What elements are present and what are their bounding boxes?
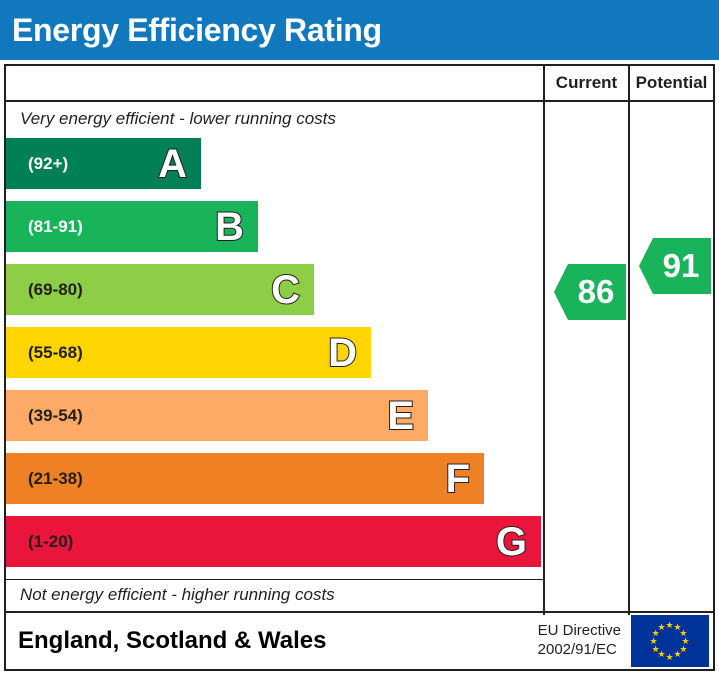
eu-flag-star: ★ [652,645,660,654]
rating-table: Current Potential Very energy efficient … [4,64,715,613]
band-letter-label: E [387,396,414,436]
caption-efficient: Very energy efficient - lower running co… [6,104,543,134]
column-header-potential: Potential [628,66,713,100]
eu-flag-star: ★ [666,653,674,662]
band-range-label: (81-91) [6,217,83,237]
column-divider-potential [628,102,630,615]
band-range-label: (1-20) [6,532,73,552]
eu-flag-star: ★ [658,623,666,632]
eu-flag-star: ★ [650,637,658,646]
caption-inefficient: Not energy efficient - higher running co… [6,579,543,609]
rating-band-b: (81-91)B [6,201,258,252]
certificate-footer: England, Scotland & Wales EU Directive 2… [4,613,715,671]
rating-band-a: (92+)A [6,138,201,189]
band-range-label: (92+) [6,154,68,174]
directive-line-2: 2002/91/EC [538,641,621,660]
band-range-label: (55-68) [6,343,83,363]
band-letter-label: B [215,207,244,247]
footer-directive: EU Directive 2002/91/EC [538,622,631,660]
footer-region-label: England, Scotland & Wales [6,627,538,655]
column-header-blank [6,66,543,100]
certificate-header: Energy Efficiency Rating [0,0,719,60]
rating-band-d: (55-68)D [6,327,371,378]
band-letter-label: F [446,459,470,499]
potential-rating-value: 91 [663,247,700,285]
band-letter-label: D [328,333,357,373]
band-letter-label: C [271,270,300,310]
band-range-label: (39-54) [6,406,83,426]
rating-band-e: (39-54)E [6,390,428,441]
band-range-label: (69-80) [6,280,83,300]
rating-band-c: (69-80)C [6,264,314,315]
directive-line-1: EU Directive [538,622,621,641]
band-letter-label: G [496,522,527,562]
epc-certificate: Energy Efficiency Rating Current Potenti… [0,0,719,675]
eu-flag-star: ★ [666,621,674,630]
page-title: Energy Efficiency Rating [12,12,382,49]
rating-band-g: (1-20)G [6,516,541,567]
rating-band-f: (21-38)F [6,453,484,504]
potential-rating-arrow: 91 [639,238,711,294]
rating-bands: (92+)A(81-91)B(69-80)C(55-68)D(39-54)E(2… [6,138,543,579]
column-header-row: Current Potential [6,66,713,102]
band-range-label: (21-38) [6,469,83,489]
eu-flag-star: ★ [674,650,682,659]
eu-flag-icon: ★★★★★★★★★★★★ [631,615,709,667]
current-rating-arrow: 86 [554,264,626,320]
band-letter-label: A [158,144,187,184]
column-header-current: Current [543,66,628,100]
column-divider-current [543,102,545,615]
current-rating-value: 86 [578,273,615,311]
